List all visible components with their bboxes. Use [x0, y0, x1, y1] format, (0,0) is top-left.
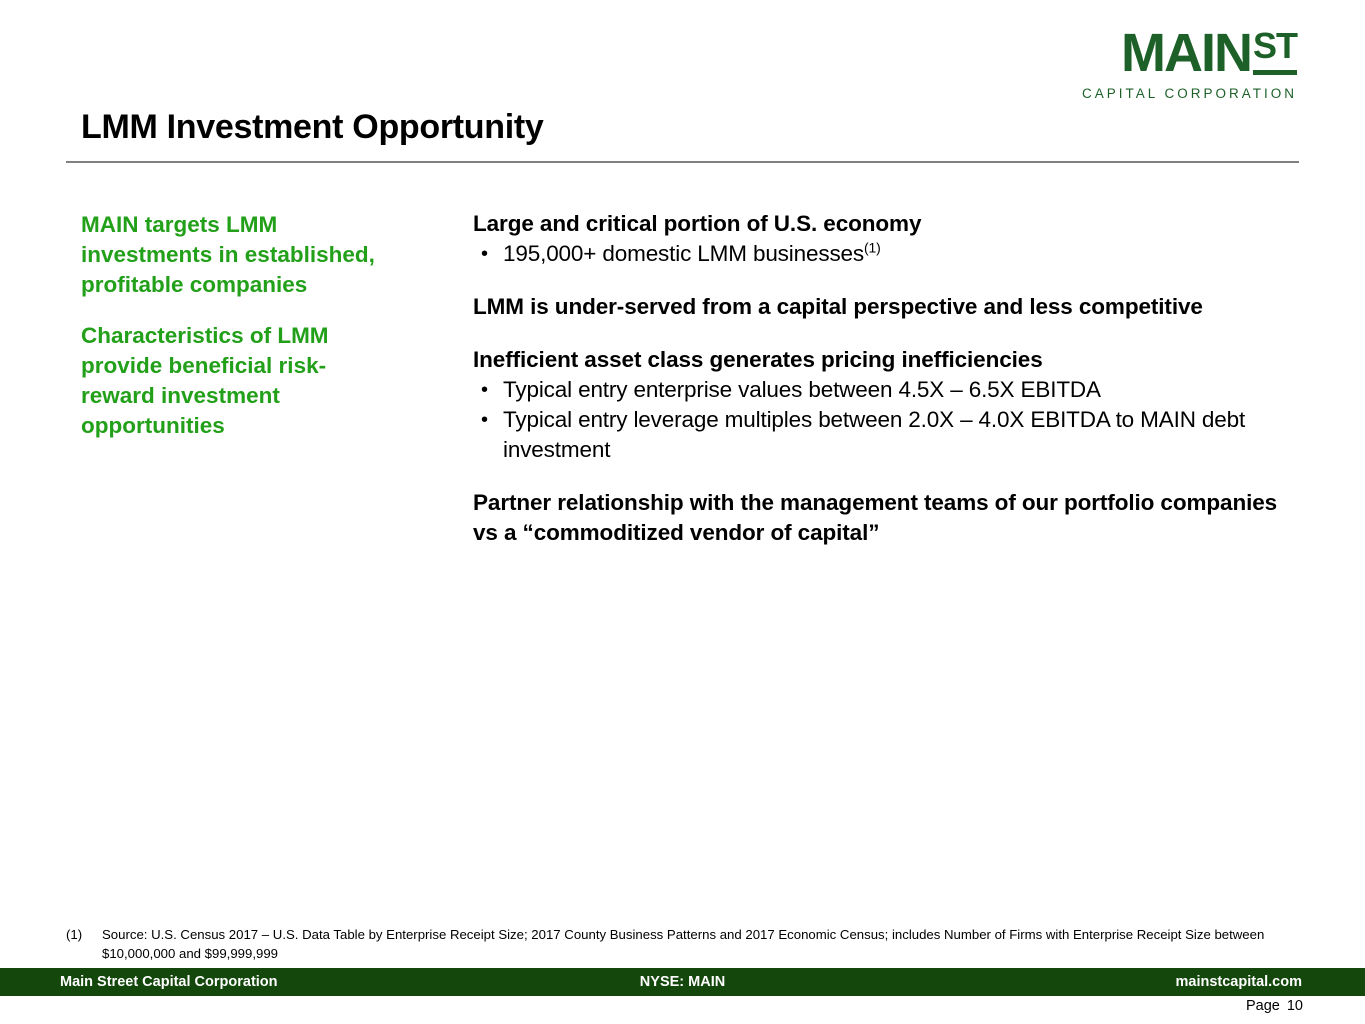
bullet-list: •195,000+ domestic LMM businesses(1): [473, 239, 1283, 269]
content-block: Partner relationship with the management…: [473, 488, 1283, 548]
footer-ticker: NYSE: MAIN: [0, 974, 1365, 990]
content-block: LMM is under-served from a capital persp…: [473, 292, 1283, 322]
list-item-text: Typical entry leverage multiples between…: [503, 407, 1245, 462]
list-item-text: Typical entry enterprise values between …: [503, 377, 1101, 402]
right-content-column: Large and critical portion of U.S. econo…: [473, 209, 1283, 548]
page-number-label: Page: [1246, 998, 1280, 1014]
block-heading: Partner relationship with the management…: [473, 488, 1283, 548]
list-item-text: 195,000+ domestic LMM businesses: [503, 241, 864, 266]
logo-main-text: MAIN: [1121, 26, 1251, 80]
title-divider: [66, 161, 1299, 163]
page-title: LMM Investment Opportunity: [81, 108, 544, 147]
footnote-reference: (1): [864, 240, 881, 256]
content-block: Inefficient asset class generates pricin…: [473, 345, 1283, 465]
left-paragraph: Characteristics of LMM provide beneficia…: [81, 321, 391, 440]
logo-st-text: ST: [1253, 28, 1297, 64]
footnote-marker: (1): [66, 925, 102, 944]
content-block: Large and critical portion of U.S. econo…: [473, 209, 1283, 269]
list-item: •Typical entry enterprise values between…: [473, 375, 1283, 405]
page-number-value: 10: [1287, 998, 1303, 1014]
bullet-dot-icon: •: [481, 375, 488, 405]
logo-underline-rule: [1253, 70, 1297, 75]
footer-website[interactable]: mainstcapital.com: [1175, 974, 1302, 990]
logo-subtitle: CAPITAL CORPORATION: [1082, 87, 1297, 101]
left-highlight-column: MAIN targets LMM investments in establis…: [81, 210, 391, 441]
list-item: •Typical entry leverage multiples betwee…: [473, 405, 1283, 465]
bullet-dot-icon: •: [481, 405, 488, 435]
main-street-capital-logo: MAIN ST CAPITAL CORPORATION: [1082, 26, 1297, 101]
block-heading: Large and critical portion of U.S. econo…: [473, 209, 1283, 239]
bullet-list: •Typical entry enterprise values between…: [473, 375, 1283, 465]
block-heading: Inefficient asset class generates pricin…: [473, 345, 1283, 375]
list-item: •195,000+ domestic LMM businesses(1): [473, 239, 1283, 269]
footnote-text: Source: U.S. Census 2017 – U.S. Data Tab…: [102, 925, 1296, 963]
footnote: (1) Source: U.S. Census 2017 – U.S. Data…: [66, 925, 1296, 963]
bullet-dot-icon: •: [481, 239, 488, 269]
left-paragraph: MAIN targets LMM investments in establis…: [81, 210, 391, 299]
footer-bar: Main Street Capital Corporation NYSE: MA…: [0, 968, 1365, 996]
logo-wordmark: MAIN ST: [1082, 26, 1297, 80]
block-heading: LMM is under-served from a capital persp…: [473, 292, 1283, 322]
page-number: Page10: [1246, 998, 1303, 1014]
logo-st-group: ST: [1253, 28, 1297, 75]
